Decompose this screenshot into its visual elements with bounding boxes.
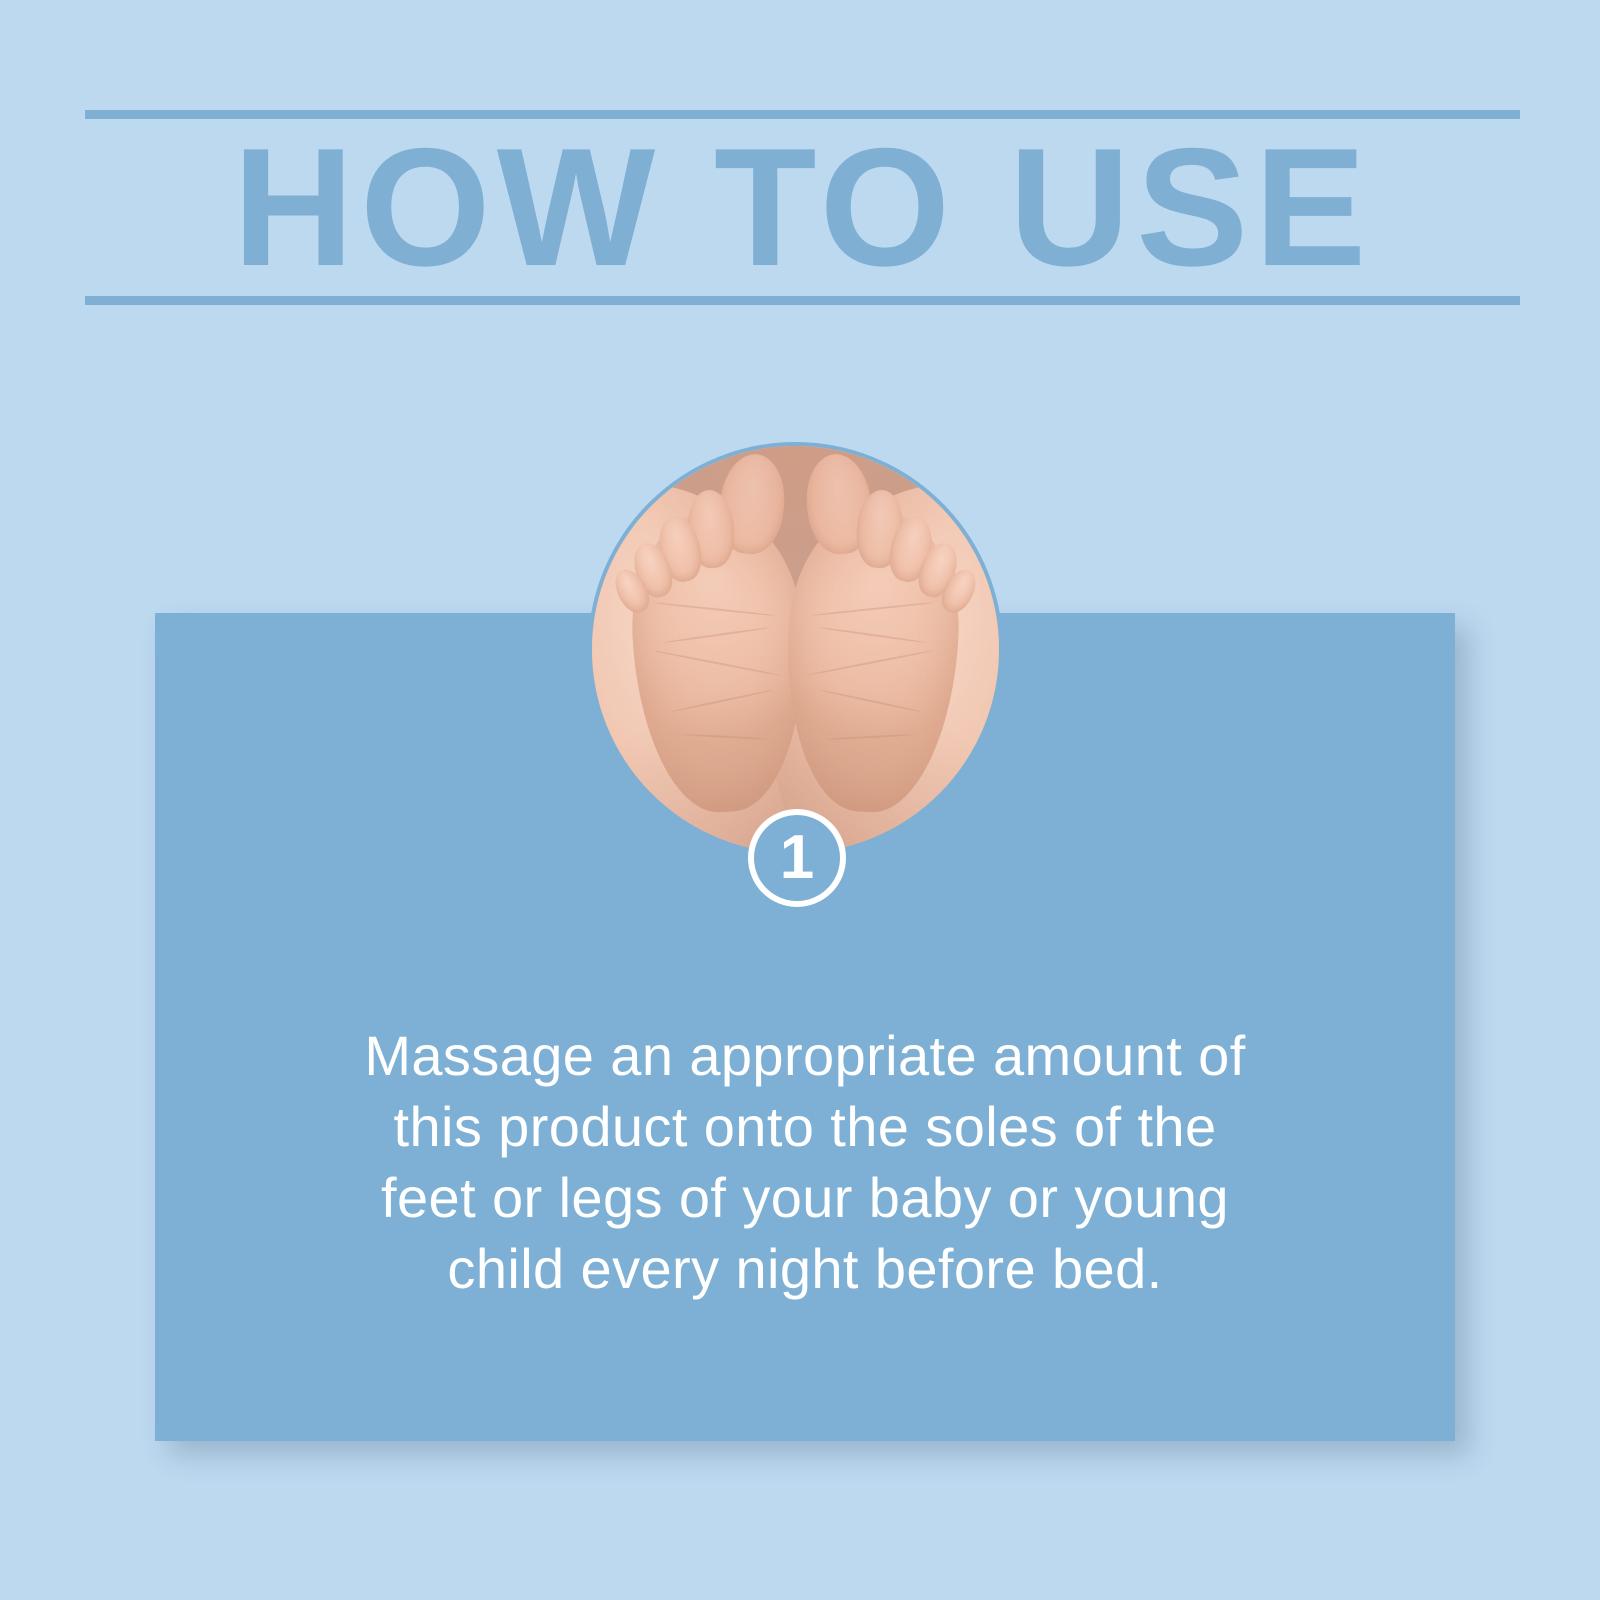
step-description-line: child every night before bed.	[355, 1233, 1255, 1304]
baby-feet-illustration	[592, 446, 999, 853]
step-description-line: feet or legs of your baby or young	[355, 1162, 1255, 1233]
step-description-line: this product onto the soles of the	[355, 1091, 1255, 1162]
how-to-use-card: HOW TO USE	[0, 0, 1600, 1600]
header: HOW TO USE	[85, 110, 1520, 305]
step-number-badge: 1	[748, 809, 846, 907]
step-image	[588, 442, 1003, 857]
step-description-line: Massage an appropriate amount of	[355, 1020, 1255, 1091]
page-title: HOW TO USE	[85, 118, 1520, 296]
step-number-label: 1	[780, 827, 814, 889]
step-description: Massage an appropriate amount of this pr…	[355, 1020, 1255, 1304]
header-bottom-divider	[85, 296, 1520, 305]
